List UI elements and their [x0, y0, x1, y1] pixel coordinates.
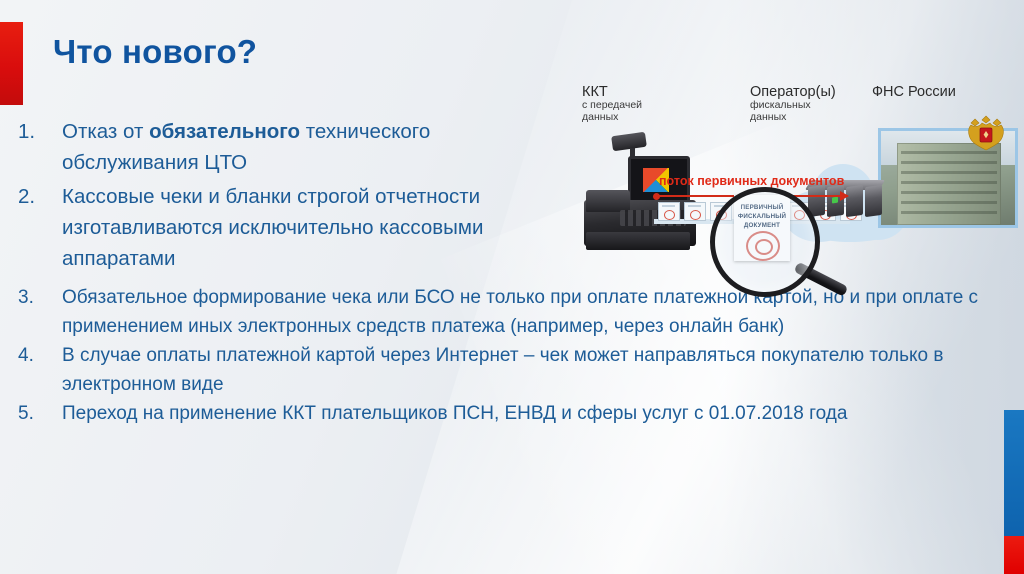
- list-item-text: Кассовые чеки и бланки строгой отчетност…: [62, 181, 502, 274]
- list-item-number: 4.: [18, 341, 62, 370]
- right-red-accent-bar: [1004, 536, 1024, 574]
- diagram-label-kkt: ККТ с передачей данных: [582, 84, 642, 123]
- bullet-group-secondary: 3. Обязательное формирование чека или БС…: [0, 283, 1000, 428]
- diagram-label-fns-title: ФНС России: [872, 84, 956, 100]
- magnifier-lens: [710, 187, 820, 297]
- list-item-number: 5.: [18, 399, 62, 428]
- flow-label: поток первичных документов: [659, 174, 844, 188]
- server-unit: [846, 185, 863, 217]
- diagram-label-ofd-sub1: фискальных: [750, 100, 836, 112]
- diagram-label-kkt-sub2: данных: [582, 112, 642, 124]
- list-item: 5. Переход на применение ККТ плательщико…: [0, 399, 1000, 428]
- right-blue-accent-bar: [1004, 410, 1024, 536]
- receipt-icon: [658, 202, 680, 221]
- list-item-number: 1.: [18, 116, 62, 147]
- pos-camera: [611, 132, 647, 152]
- russian-coat-of-arms-icon: [964, 112, 1008, 154]
- diagram-label-kkt-sub1: с передачей: [582, 100, 642, 112]
- list-item-text: Переход на применение ККТ плательщиков П…: [62, 399, 992, 428]
- list-item-number: 3.: [18, 283, 62, 312]
- server-unit: [865, 185, 882, 217]
- fiscal-data-flow-diagram: ККТ с передачей данных Оператор(ы) фиска…: [560, 82, 1024, 297]
- pos-cash-register-icon: [584, 130, 704, 250]
- list-item-number: 2.: [18, 181, 62, 212]
- left-red-accent-bar: [0, 22, 23, 105]
- list-item-text-before: Отказ от: [62, 120, 149, 143]
- page-title: Что нового?: [53, 33, 257, 71]
- diagram-label-fns: ФНС России: [872, 84, 956, 100]
- diagram-label-ofd-sub2: данных: [750, 112, 836, 124]
- list-item-text-bold: обязательного: [149, 120, 300, 143]
- pos-printer: [586, 190, 630, 212]
- list-item: 4. В случае оплаты платежной картой чере…: [0, 341, 1000, 399]
- building-shape: [897, 143, 1001, 225]
- diagram-label-ofd-title: Оператор(ы): [750, 84, 836, 100]
- diagram-label-ofd: Оператор(ы) фискальных данных: [750, 84, 836, 123]
- magnifier-icon: ПЕРВИЧНЫЙ ФИСКАЛЬНЫЙ ДОКУМЕНТ: [688, 187, 838, 297]
- list-item-text: Отказ от обязательного технического обсл…: [62, 116, 502, 178]
- pos-cash-drawer: [586, 232, 690, 250]
- list-item-text: В случае оплаты платежной картой через И…: [62, 341, 992, 399]
- slide-canvas: Что нового? 1. Отказ от обязательного те…: [0, 0, 1024, 574]
- diagram-label-kkt-title: ККТ: [582, 84, 642, 100]
